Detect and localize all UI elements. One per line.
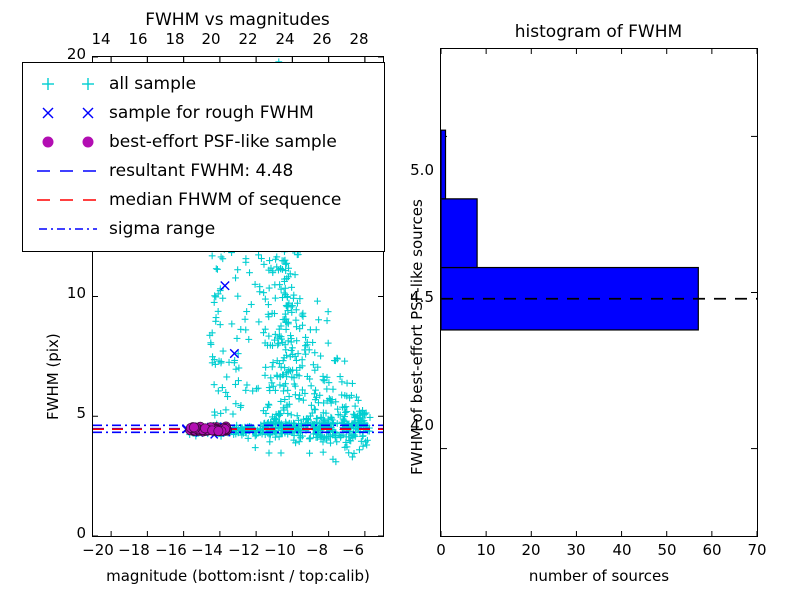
legend-entry-resultant-fwhm[interactable]: resultant FWHM: 4.48 [31, 156, 376, 185]
blue-dashdot-line-icon [31, 219, 105, 239]
red-dashed-line-icon [31, 190, 105, 210]
cross-marker-icon [31, 103, 105, 123]
scatter-plot-title: FWHM vs magnitudes [92, 10, 383, 30]
plus-marker-icon [31, 74, 105, 94]
histogram-title: histogram of FWHM [440, 22, 757, 42]
legend-label: sigma range [105, 219, 215, 239]
legend-entry-sigma-range[interactable]: sigma range [31, 214, 376, 243]
circle-marker-icon [31, 132, 105, 152]
histogram-plot-area [440, 48, 758, 537]
scatter-legend[interactable]: all sample sample for rough FWHM [22, 62, 385, 252]
legend-label: sample for rough FWHM [105, 103, 314, 123]
legend-label: median FHWM of sequence [105, 190, 341, 210]
blue-dashed-line-icon [31, 161, 105, 181]
figure-canvas: FWHM vs magnitudes 14 16 18 20 22 24 26 … [0, 0, 800, 600]
legend-entry-median-fhwm[interactable]: median FHWM of sequence [31, 185, 376, 214]
legend-label: all sample [105, 74, 196, 94]
scatter-y-axis-label: FWHM (pix) [44, 333, 62, 420]
legend-entry-all-sample[interactable]: all sample [31, 69, 376, 98]
scatter-x-axis-label: magnitude (bottom:isnt / top:calib) [92, 567, 384, 585]
legend-label: best-effort PSF-like sample [105, 132, 337, 152]
histogram-data-layer [441, 49, 757, 536]
histogram-x-axis-label: number of sources [440, 567, 758, 585]
legend-label: resultant FWHM: 4.48 [105, 161, 293, 181]
legend-entry-rough-fwhm[interactable]: sample for rough FWHM [31, 98, 376, 127]
legend-entry-psf-like-sample[interactable]: best-effort PSF-like sample [31, 127, 376, 156]
